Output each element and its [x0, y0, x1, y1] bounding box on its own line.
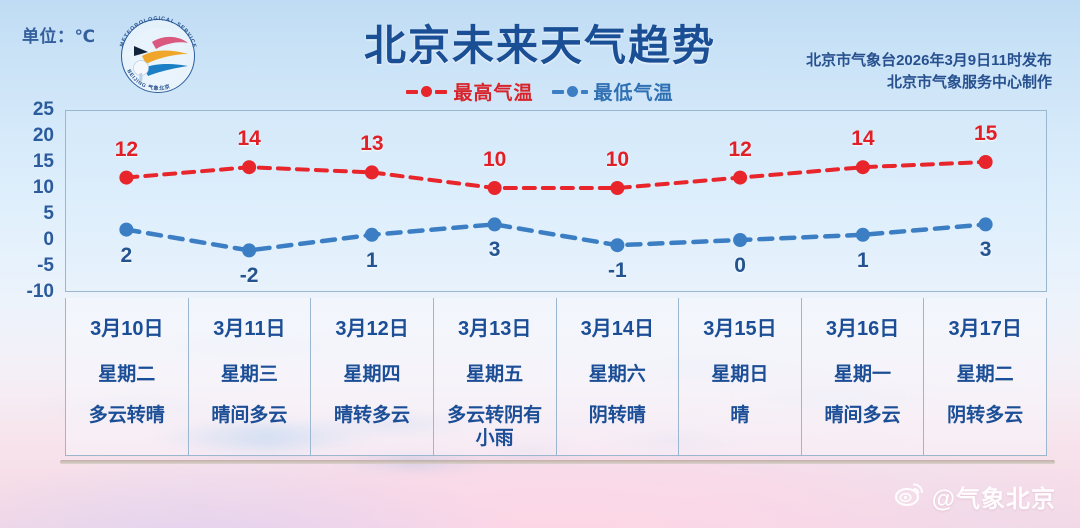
forecast-day-cell[interactable]: 3月12日星期四晴转多云 [311, 298, 434, 455]
forecast-weekday: 星期一 [834, 359, 891, 386]
data-label-low: 3 [489, 238, 501, 262]
forecast-day-cell[interactable]: 3月11日星期三晴间多云 [189, 298, 312, 455]
forecast-day-table: 3月10日星期二多云转晴3月11日星期三晴间多云3月12日星期四晴转多云3月13… [65, 298, 1047, 456]
forecast-day-cell[interactable]: 3月17日星期二阴转多云 [924, 298, 1046, 455]
forecast-condition: 晴间多云 [207, 404, 291, 427]
forecast-weekday: 星期日 [711, 359, 768, 386]
y-axis-tick: 0 [43, 229, 54, 251]
data-label-high: 10 [606, 148, 629, 172]
data-label-high: 15 [974, 122, 997, 146]
chart-plot-area [65, 110, 1047, 292]
forecast-weekday: 星期五 [466, 359, 523, 386]
watermark: @气象北京 [895, 479, 1056, 514]
table-base-shelf [60, 460, 1055, 464]
data-label-high: 12 [115, 138, 138, 162]
forecast-condition: 晴转多云 [330, 404, 414, 427]
data-label-high: 13 [360, 132, 383, 156]
forecast-date: 3月15日 [703, 312, 776, 341]
forecast-day-cell[interactable]: 3月10日星期二多云转晴 [66, 298, 189, 455]
y-axis: 2520151050-5-10 [0, 100, 60, 300]
y-axis-tick: 25 [33, 99, 54, 121]
forecast-date: 3月17日 [949, 312, 1022, 341]
forecast-condition: 阴转多云 [943, 404, 1027, 427]
data-label-low: 3 [980, 238, 992, 262]
weibo-icon [895, 481, 925, 512]
forecast-date: 3月12日 [335, 312, 408, 341]
forecast-date: 3月13日 [458, 312, 531, 341]
y-axis-tick: 10 [33, 177, 54, 199]
y-axis-tick: 15 [33, 151, 54, 173]
watermark-text: @气象北京 [932, 479, 1056, 514]
weather-forecast-graphic: 单位：℃ METEOROLOGICAL SERVICE BEIJING 气象北京 [0, 0, 1080, 528]
data-label-low: 1 [366, 249, 378, 273]
forecast-weekday: 星期六 [589, 359, 646, 386]
data-label-high: 14 [851, 127, 874, 151]
forecast-weekday: 星期四 [344, 359, 401, 386]
legend-label-low: 最低气温 [594, 78, 674, 105]
y-axis-tick: 20 [33, 125, 54, 147]
forecast-date: 3月11日 [213, 312, 285, 341]
y-axis-tick: -5 [37, 255, 54, 277]
data-label-low: -1 [608, 259, 627, 283]
chart-legend: 最高气温 最低气温 [0, 78, 1080, 105]
legend-item-low: 最低气温 [552, 78, 674, 105]
forecast-date: 3月16日 [826, 312, 899, 341]
legend-label-high: 最高气温 [453, 78, 533, 105]
legend-item-high: 最高气温 [406, 78, 533, 105]
y-axis-tick: -10 [27, 281, 54, 303]
data-label-low: -2 [240, 264, 259, 288]
legend-marker-high-icon [406, 86, 447, 97]
data-label-low: 2 [121, 244, 133, 268]
forecast-date: 3月14日 [581, 312, 654, 341]
y-axis-tick: 5 [43, 203, 54, 225]
data-label-high: 14 [237, 127, 260, 151]
forecast-date: 3月10日 [90, 312, 163, 341]
forecast-condition: 多云转晴 [85, 404, 169, 427]
forecast-condition: 晴间多云 [821, 404, 905, 427]
data-label-high: 12 [728, 138, 751, 162]
forecast-weekday: 星期三 [221, 359, 278, 386]
forecast-day-cell[interactable]: 3月16日星期一晴间多云 [802, 298, 925, 455]
forecast-condition: 晴 [726, 404, 753, 427]
forecast-day-cell[interactable]: 3月14日星期六阴转晴 [557, 298, 680, 455]
legend-marker-low-icon [552, 86, 588, 97]
forecast-day-cell[interactable]: 3月13日星期五多云转阴有小雨 [434, 298, 557, 455]
data-label-low: 0 [734, 254, 746, 278]
data-label-high: 10 [483, 148, 506, 172]
forecast-condition: 多云转阴有小雨 [434, 404, 556, 450]
issued-line-1: 北京市气象台2026年3月9日11时发布 [806, 50, 1052, 72]
data-label-low: 1 [857, 249, 869, 273]
forecast-weekday: 星期二 [98, 359, 155, 386]
forecast-condition: 阴转晴 [585, 404, 650, 427]
forecast-weekday: 星期二 [957, 359, 1014, 386]
forecast-day-cell[interactable]: 3月15日星期日晴 [679, 298, 802, 455]
